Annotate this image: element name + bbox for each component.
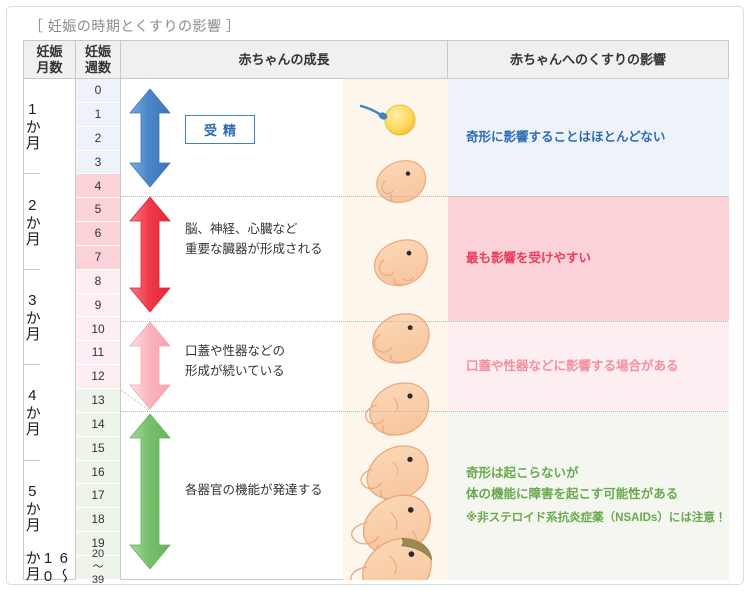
fetus-illustration-week20-39	[351, 538, 432, 580]
header-gestational-month: 妊娠 月数	[24, 41, 76, 78]
week-column: 01234567891011121314151617181920 ～ 39	[76, 79, 121, 580]
week-cell: 11	[76, 341, 120, 365]
week-cell: 4	[76, 174, 120, 198]
effect-column: 奇形に影響することはほとんどない最も影響を受けやすい口蓋や性器などに影響する場合…	[448, 79, 729, 580]
arrow-stage1-blue	[130, 89, 170, 187]
month-cell: 5か月	[24, 461, 40, 556]
effect-band-stage4-text: 奇形は起こらないが 体の機能に障害を起こす可能性がある※非ステロイド系抗炎症薬（…	[448, 463, 726, 528]
week-cell: 0	[76, 79, 120, 103]
fetal-development-illustrations	[343, 79, 448, 580]
effect-band-stage4: 奇形は起こらないが 体の機能に障害を起こす可能性がある※非ステロイド系抗炎症薬（…	[448, 411, 729, 580]
growth-stage2-text: 脳、神経、心臓など 重要な臓器が形成される	[185, 219, 323, 259]
effect-band-stage1: 奇形に影響することはほとんどない	[448, 79, 729, 196]
fertilization-label: 受精	[185, 115, 255, 144]
week-cell: 5	[76, 198, 120, 222]
week-cell: 12	[76, 365, 120, 389]
week-cell: 17	[76, 484, 120, 508]
week-cell: 1	[76, 103, 120, 127]
arrow-stage4-green	[130, 414, 170, 569]
page-frame: ［ 妊娠の時期とくすりの影響 ］ 妊娠 月数 妊娠 週数 赤ちゃんの成長 赤ちゃ…	[6, 6, 744, 585]
growth-stage4-text: 各器官の機能が発達する	[185, 480, 323, 500]
growth-stage3-text: 口蓋や性器などの 形成が続いている	[185, 341, 285, 381]
divider-stage1-stage2	[121, 196, 728, 197]
month-cell: 2か月	[24, 174, 40, 269]
growth-column: 受精 脳、神経、心臓など 重要な臓器が形成される 口蓋や性器などの 形成が続いて…	[121, 79, 448, 580]
header-medication-effect: 赤ちゃんへのくすりの影響	[448, 41, 728, 78]
week-cell: 7	[76, 246, 120, 270]
effect-band-stage2-text: 最も影響を受けやすい	[448, 248, 591, 269]
effect-band-stage3-text: 口蓋や性器などに影響する場合がある	[448, 356, 679, 377]
month-cell: 4か月	[24, 365, 40, 460]
week-cell: 8	[76, 270, 120, 294]
table-body: 奇形に影響することはほとんどない最も影響を受けやすい口蓋や性器などに影響する場合…	[24, 79, 728, 580]
week-cell: 20 ～ 39	[76, 556, 120, 580]
week-cell: 18	[76, 508, 120, 532]
effect-band-stage1-text: 奇形に影響することはほとんどない	[448, 127, 665, 148]
week-cell: 3	[76, 151, 120, 175]
embryo-illustration-week9	[374, 240, 427, 286]
header-gestational-week: 妊娠 週数	[76, 41, 121, 78]
fetus-illustration-week15	[366, 383, 429, 435]
week-cell: 9	[76, 294, 120, 318]
month-cell: 3か月	[24, 270, 40, 365]
week-cell: 13	[76, 389, 120, 413]
week-cell: 15	[76, 437, 120, 461]
month-cell: 6～10か月	[24, 556, 71, 580]
week-cell: 16	[76, 461, 120, 485]
week-cell: 2	[76, 127, 120, 151]
week-cell: 6	[76, 222, 120, 246]
effect-band-stage3: 口蓋や性器などに影響する場合がある	[448, 321, 729, 411]
arrow-stage3-pink	[130, 322, 170, 409]
header-baby-growth: 赤ちゃんの成長	[121, 41, 448, 78]
effect-band-stage4-note: ※非ステロイド系抗炎症薬（NSAIDs）には注意！	[466, 509, 726, 528]
month-cell: 1か月	[24, 79, 40, 174]
page-title: ［ 妊娠の時期とくすりの影響 ］	[29, 16, 240, 36]
week-cell: 14	[76, 413, 120, 437]
week-cell: 10	[76, 317, 120, 341]
month-column: 1か月2か月3か月4か月5か月6～10か月	[24, 79, 76, 580]
fetus-illustration-week18	[361, 446, 428, 500]
divider-stage2-stage3	[121, 321, 728, 322]
sperm-and-ovum-illustration	[361, 105, 415, 135]
effect-band-stage2: 最も影響を受けやすい	[448, 196, 729, 321]
pregnancy-medication-chart: 妊娠 月数 妊娠 週数 赤ちゃんの成長 赤ちゃんへのくすりの影響 奇形に影響する…	[23, 40, 729, 580]
table-header-row: 妊娠 月数 妊娠 週数 赤ちゃんの成長 赤ちゃんへのくすりの影響	[24, 41, 728, 79]
arrow-stage2-red	[130, 197, 170, 312]
divider-stage3-stage4	[121, 411, 728, 412]
